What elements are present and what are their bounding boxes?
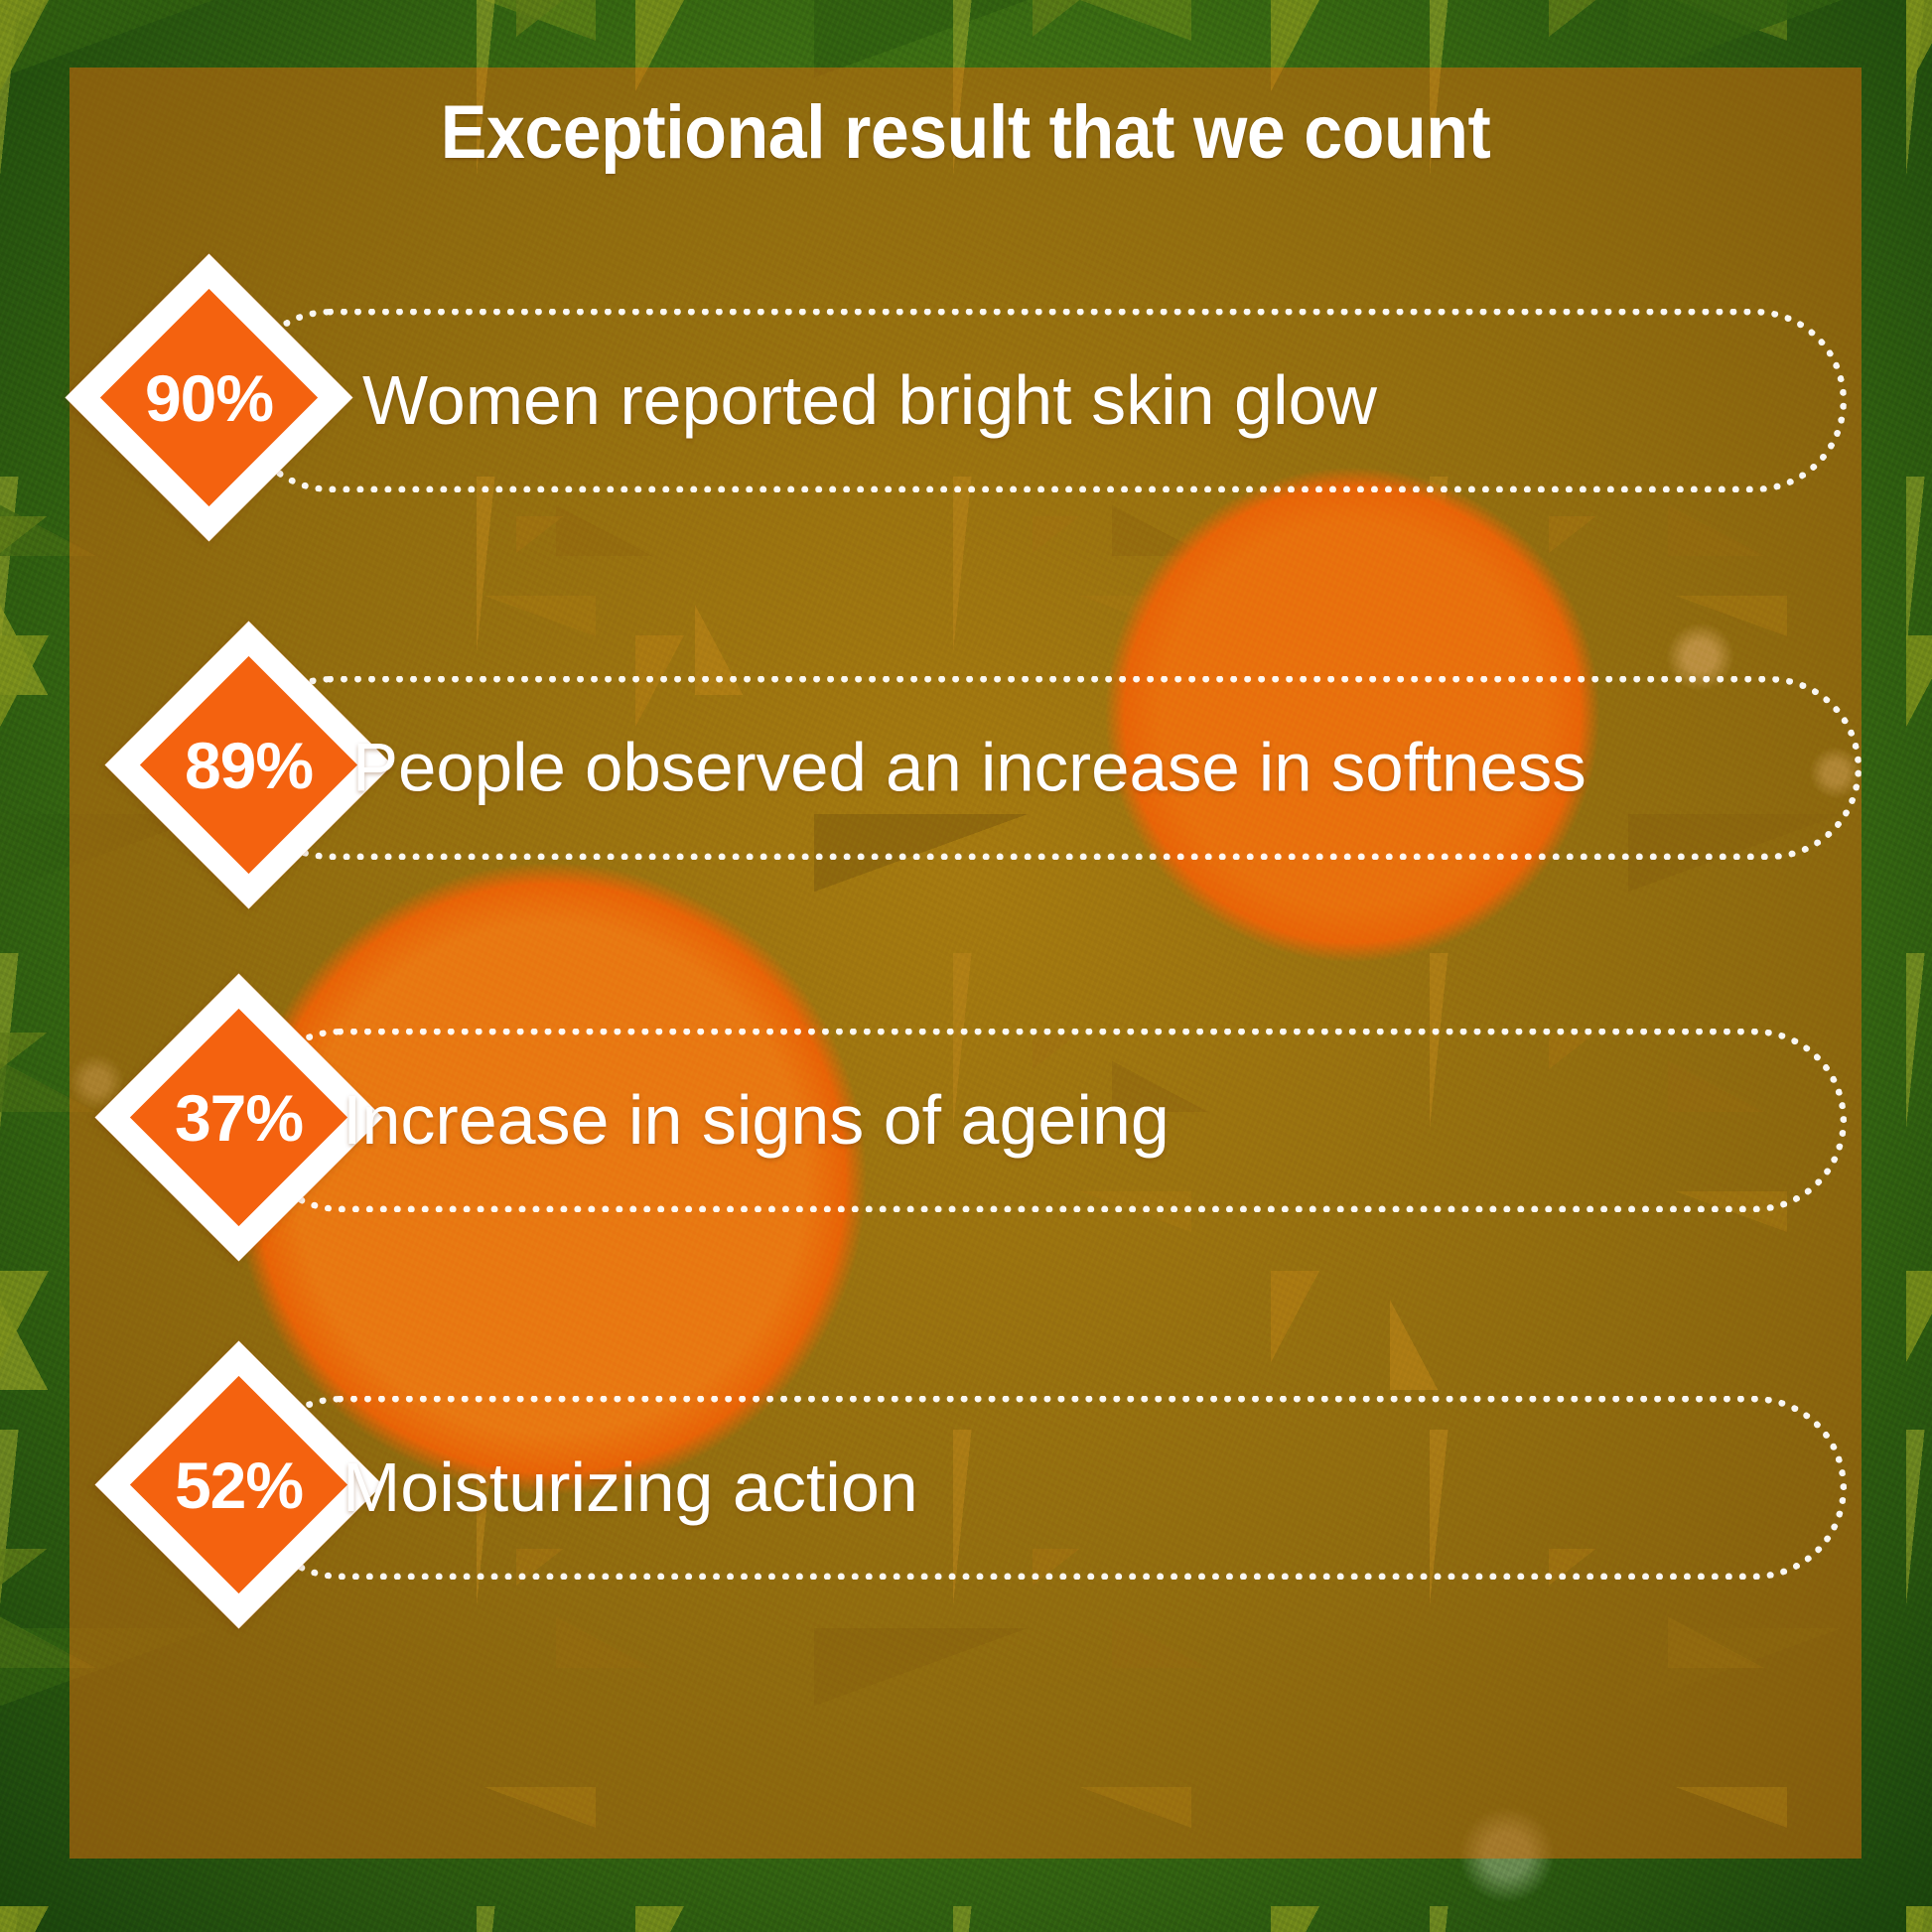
stat-label: Increase in signs of ageing [343, 1085, 1792, 1155]
stat-row: 90% Women reported bright skin glow [69, 271, 1862, 529]
stat-label: Moisturizing action [343, 1452, 1792, 1522]
page-title: Exceptional result that we count [141, 93, 1790, 173]
diamond-badge-icon [66, 254, 353, 542]
infographic-content: Exceptional result that we count 90% Wom… [69, 68, 1862, 1859]
stat-row: 37% Increase in signs of ageing [69, 991, 1862, 1249]
diamond-badge-icon [95, 974, 383, 1262]
diamond-badge-icon [95, 1341, 383, 1629]
stat-label: People observed an increase in softness [352, 734, 1792, 802]
stat-label: Women reported bright skin glow [362, 365, 1792, 435]
stat-row: 52% Moisturizing action [69, 1358, 1862, 1616]
stat-row: 89% People observed an increase in softn… [69, 638, 1862, 897]
diamond-badge-icon [105, 621, 393, 909]
infographic-canvas: Exceptional result that we count 90% Wom… [0, 0, 1932, 1932]
